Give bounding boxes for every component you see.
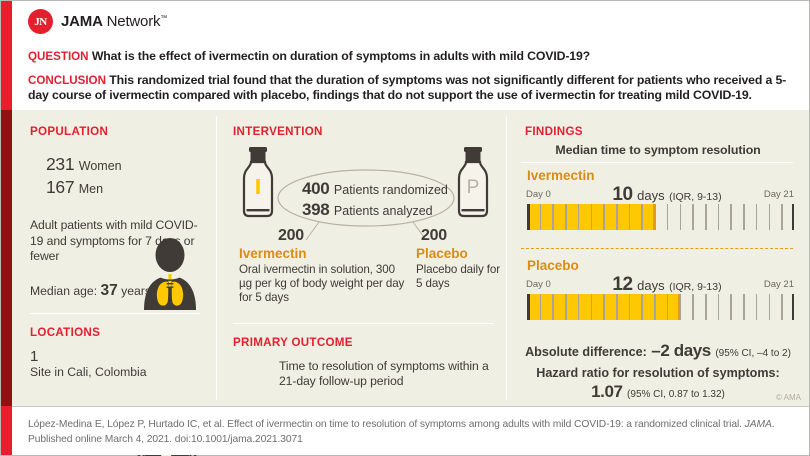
findings-title: FINDINGS: [525, 125, 583, 138]
chart-placebo-day-start: Day 0: [526, 279, 551, 290]
hazard-ratio-value: 1.07: [591, 382, 623, 401]
axis-tick: [705, 204, 707, 230]
chart-placebo-day-end: Day 21: [764, 279, 794, 290]
axis-tick: [565, 294, 567, 320]
axis-tick: [616, 294, 618, 320]
arm-placebo-description: Placebo daily for 5 days: [416, 263, 506, 291]
axis-tick: [781, 204, 783, 230]
absolute-difference-row: Absolute difference: –2 days (95% CI, –4…: [507, 341, 809, 361]
axis-tick: [756, 204, 758, 230]
men-label: Men: [79, 182, 103, 196]
arm-ivermectin-name: Ivermectin: [239, 246, 307, 261]
analyzed-row: 398 Patients analyzed: [302, 200, 448, 221]
absolute-difference-ci: (95% CI, –4 to 2): [715, 348, 791, 359]
analyzed-count: 398: [302, 200, 329, 219]
chart-ivermectin-day-start: Day 0: [526, 189, 551, 200]
median-age-row: Median age: 37 years: [30, 282, 151, 300]
population-counts: 231 Women 167 Men: [46, 154, 122, 200]
median-age-unit: years: [121, 284, 151, 298]
citation: López-Medina E, López P, Hurtado IC, et …: [28, 418, 788, 447]
median-age-value: 37: [100, 282, 117, 299]
conclusion-text: This randomized trial found that the dur…: [28, 73, 786, 102]
jama-logo-icon: JN: [28, 9, 53, 34]
axis-tick: [781, 294, 783, 320]
header: JN JAMA Network™ QUESTION What is the ef…: [12, 1, 809, 110]
axis-tick: [743, 294, 745, 320]
intervention-title: INTERVENTION: [233, 125, 323, 138]
logo-trademark: ™: [160, 15, 167, 22]
axis-tick: [641, 204, 643, 230]
axis-tick: [629, 204, 631, 230]
absolute-difference-label: Absolute difference:: [525, 345, 647, 359]
primary-outcome-text: Time to resolution of symptoms within a …: [279, 359, 494, 389]
chart-placebo-median-unit: days: [637, 278, 664, 293]
chart-placebo-label: Placebo: [527, 258, 579, 273]
axis-tick: [730, 204, 732, 230]
bar-end-marker: [678, 294, 680, 320]
population-title: POPULATION: [30, 125, 108, 138]
axis-tick: [730, 294, 732, 320]
intervention-divider: [233, 323, 493, 324]
locations-title: LOCATIONS: [30, 326, 100, 339]
analyzed-label: Patients analyzed: [334, 204, 433, 218]
randomized-label: Patients randomized: [334, 183, 448, 197]
chart-placebo-median-value: 12: [612, 274, 632, 295]
conclusion-row: CONCLUSION This randomized trial found t…: [28, 73, 803, 103]
axis-tick: [718, 294, 720, 320]
women-row: 231 Women: [46, 154, 122, 177]
axis-tick: [552, 204, 554, 230]
axis-tick: [769, 294, 771, 320]
median-age-label: Median age:: [30, 284, 97, 298]
population-description: Adult patients with mild COVID-19 and sy…: [30, 218, 202, 265]
findings-divider: [521, 162, 793, 163]
chart-ivermectin-day-end: Day 21: [764, 189, 794, 200]
hazard-ratio-row: 1.07 (95% CI, 0.87 to 1.32): [507, 382, 809, 402]
axis-tick: [629, 294, 631, 320]
citation-part1: López-Medina E, López P, Hurtado IC, et …: [28, 419, 745, 430]
women-label: Women: [79, 159, 122, 173]
citation-journal: JAMA: [745, 419, 772, 430]
randomized-count: 400: [302, 179, 329, 198]
logo-initials: JN: [34, 16, 46, 28]
axis-tick: [680, 204, 682, 230]
women-count: 231: [46, 154, 74, 174]
logo-wordmark: JAMA Network™: [61, 13, 167, 30]
red-spine-footer: [1, 406, 12, 455]
chart-ivermectin-median-value: 10: [612, 184, 632, 205]
axis-tick: [705, 294, 707, 320]
chart-ivermectin-label: Ivermectin: [527, 168, 595, 183]
findings-panel: FINDINGS Median time to symptom resoluti…: [507, 110, 809, 406]
axis-tick: [769, 204, 771, 230]
men-row: 167 Men: [46, 177, 122, 200]
axis-tick: [616, 204, 618, 230]
chart-ivermectin-iqr: (IQR, 9-13): [669, 191, 722, 203]
axis-tick: [540, 204, 542, 230]
population-panel: POPULATION 231 Women 167 Men: [12, 110, 216, 406]
randomization-counts: 400 Patients randomized 398 Patients ana…: [302, 179, 448, 221]
axis-tick: [792, 204, 795, 230]
primary-outcome-title: PRIMARY OUTCOME: [233, 336, 353, 349]
axis-tick: [654, 294, 656, 320]
axis-tick: [565, 204, 567, 230]
locations-detail: Site in Cali, Colombia: [30, 365, 147, 379]
axis-tick: [692, 294, 694, 320]
axis-tick: [667, 294, 669, 320]
axis-tick: [540, 294, 542, 320]
axis-tick: [641, 294, 643, 320]
axis-tick: [718, 204, 720, 230]
axis-tick: [603, 294, 605, 320]
locations-count: 1: [30, 348, 147, 365]
red-spine-header: [1, 1, 12, 110]
copyright-notice: © AMA: [776, 393, 801, 402]
axis-tick: [603, 204, 605, 230]
question-text: What is the effect of ivermectin on dura…: [92, 49, 590, 63]
question-row: QUESTION What is the effect of ivermecti…: [28, 49, 798, 64]
axis-tick: [591, 204, 593, 230]
footer: López-Medina E, López P, Hurtado IC, et …: [12, 406, 809, 455]
logo-name-bold: JAMA: [61, 13, 103, 30]
axis-tick: [756, 294, 758, 320]
axis-tick: [527, 204, 530, 230]
findings-dashed-divider: [521, 248, 793, 249]
chart-ivermectin-median-unit: days: [637, 188, 664, 203]
arm-ivermectin-n: 200: [278, 227, 304, 245]
red-spine-body: [1, 110, 12, 406]
men-count: 167: [46, 177, 74, 197]
chart-placebo-median: 12 days (IQR, 9-13): [567, 274, 767, 296]
axis-tick: [527, 294, 530, 320]
population-divider: [30, 313, 200, 314]
axis-tick: [792, 294, 795, 320]
intervention-panel: INTERVENTION P: [217, 110, 506, 406]
chart-placebo-iqr: (IQR, 9-13): [669, 281, 722, 293]
question-label: QUESTION: [28, 50, 89, 63]
locations-info: 1 Site in Cali, Colombia: [30, 348, 147, 380]
conclusion-label: CONCLUSION: [28, 74, 106, 87]
axis-tick: [667, 204, 669, 230]
axis-tick: [578, 294, 580, 320]
arm-placebo-n: 200: [421, 227, 447, 245]
hazard-ratio-ci: (95% CI, 0.87 to 1.32): [627, 389, 725, 400]
absolute-difference-value: –2 days: [651, 341, 711, 360]
axis-tick: [578, 204, 580, 230]
axis-tick: [591, 294, 593, 320]
chart-ivermectin-median: 10 days (IQR, 9-13): [567, 184, 767, 206]
visual-abstract-page: JN JAMA Network™ QUESTION What is the ef…: [0, 0, 810, 456]
findings-subtitle: Median time to symptom resolution: [507, 143, 809, 157]
hazard-ratio-label: Hazard ratio for resolution of symptoms:: [507, 366, 809, 380]
arm-placebo-name: Placebo: [416, 246, 468, 261]
axis-tick: [692, 204, 694, 230]
axis-tick: [552, 294, 554, 320]
chart-placebo-bar: [527, 294, 794, 320]
jama-network-logo[interactable]: JN JAMA Network™: [28, 9, 167, 34]
randomized-row: 400 Patients randomized: [302, 179, 448, 200]
axis-tick: [743, 204, 745, 230]
body-panels: POPULATION 231 Women 167 Men: [12, 110, 809, 406]
bar-end-marker: [653, 204, 655, 230]
svg-text:P: P: [467, 177, 480, 198]
logo-name-light: Network: [107, 13, 161, 30]
chart-ivermectin-bar: [527, 204, 794, 230]
arm-ivermectin-description: Oral ivermectin in solution, 300 µg per …: [239, 263, 409, 304]
